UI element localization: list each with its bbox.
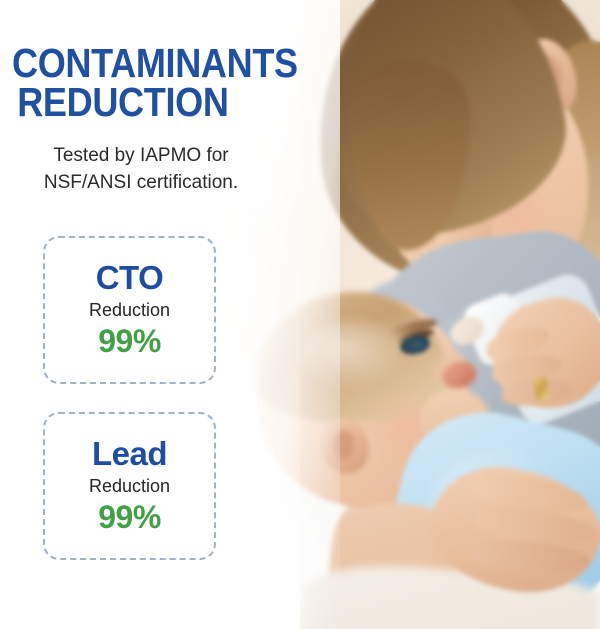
text-panel: CONTAMINANTS REDUCTION Tested by IAPMO f… [0,0,340,629]
stat-card-cto: CTO Reduction 99% [43,236,216,384]
stat-card-cto-title: CTO [96,261,164,294]
stat-card-lead: Lead Reduction 99% [43,412,216,560]
subtitle: Tested by IAPMO for NSF/ANSI certificati… [16,143,266,197]
stat-card-cto-value: 99% [98,324,161,359]
stat-card-cto-label: Reduction [89,301,170,321]
stat-card-lead-value: 99% [98,500,161,535]
page-title: CONTAMINANTS REDUCTION [12,44,248,122]
subtitle-line-2: NSF/ANSI certification. [44,172,238,193]
promo-banner: CONTAMINANTS REDUCTION Tested by IAPMO f… [0,0,600,629]
stat-card-lead-label: Reduction [89,477,170,497]
stat-card-lead-title: Lead [92,437,167,470]
page-title-line-2: REDUCTION [12,83,248,122]
subtitle-line-1: Tested by IAPMO for [53,145,228,166]
